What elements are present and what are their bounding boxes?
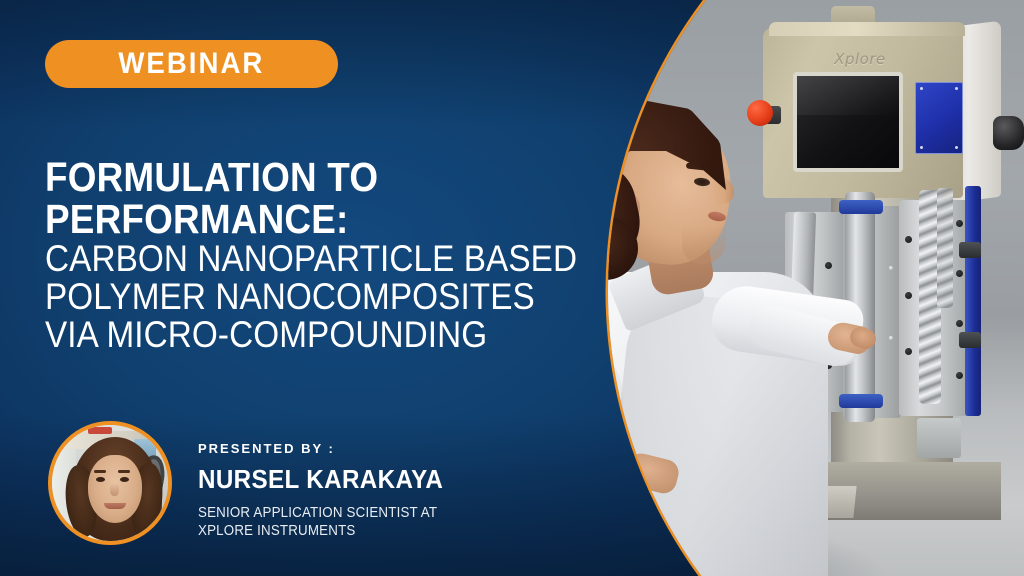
photo-content: Xplore xyxy=(608,0,1024,576)
presenter-role-line-1: SENIOR APPLICATION SCIENTIST AT xyxy=(198,504,474,522)
avatar-eyebrow-left xyxy=(94,470,106,473)
conical-screw-secondary xyxy=(937,188,953,308)
avatar-eye-right xyxy=(120,477,129,482)
scientist-figure xyxy=(608,96,858,576)
webinar-promo-banner: Xplore xyxy=(0,0,1024,576)
machine-brand-logo: Xplore xyxy=(795,50,925,68)
avatar-eyebrow-right xyxy=(118,470,130,473)
avatar-eye-left xyxy=(96,477,105,482)
subtitle-line-2: POLYMER NANOCOMPOSITES xyxy=(45,278,468,316)
machine-collection-tray xyxy=(917,418,961,458)
subtitle-line-1: CARBON NANOPARTICLE BASED xyxy=(45,240,468,278)
machine-blue-plate xyxy=(915,82,963,154)
presenter-role-line-2: XPLORE INSTRUMENTS xyxy=(198,522,474,540)
rail-clamp-upper xyxy=(959,242,981,258)
rail-clamp-lower xyxy=(959,332,981,348)
presented-by-label: PRESENTED BY : xyxy=(198,441,498,456)
title-line-1: FORMULATION TO xyxy=(45,156,468,198)
headline-block: FORMULATION TO PERFORMANCE: CARBON NANOP… xyxy=(45,156,515,354)
subtitle-line-3: VIA MICRO-COMPOUNDING xyxy=(45,316,468,354)
webinar-badge: WEBINAR xyxy=(45,40,338,88)
presenter-name: NURSEL KARAKAYA xyxy=(198,464,477,495)
avatar-mouth xyxy=(104,503,126,509)
presenter-text-block: PRESENTED BY : NURSEL KARAKAYA SENIOR AP… xyxy=(198,421,498,540)
photo-circle-mask: Xplore xyxy=(608,0,1024,576)
machine-head-top xyxy=(769,22,965,36)
machine-blue-rail xyxy=(965,186,981,416)
chin-shading xyxy=(682,224,726,264)
avatar-nose xyxy=(110,483,119,496)
machine-side-knob xyxy=(993,116,1024,150)
avatar xyxy=(48,421,172,545)
avatar-red-object xyxy=(88,427,112,434)
webinar-badge-label: WEBINAR xyxy=(118,47,264,81)
title-line-2: PERFORMANCE: xyxy=(45,198,468,240)
